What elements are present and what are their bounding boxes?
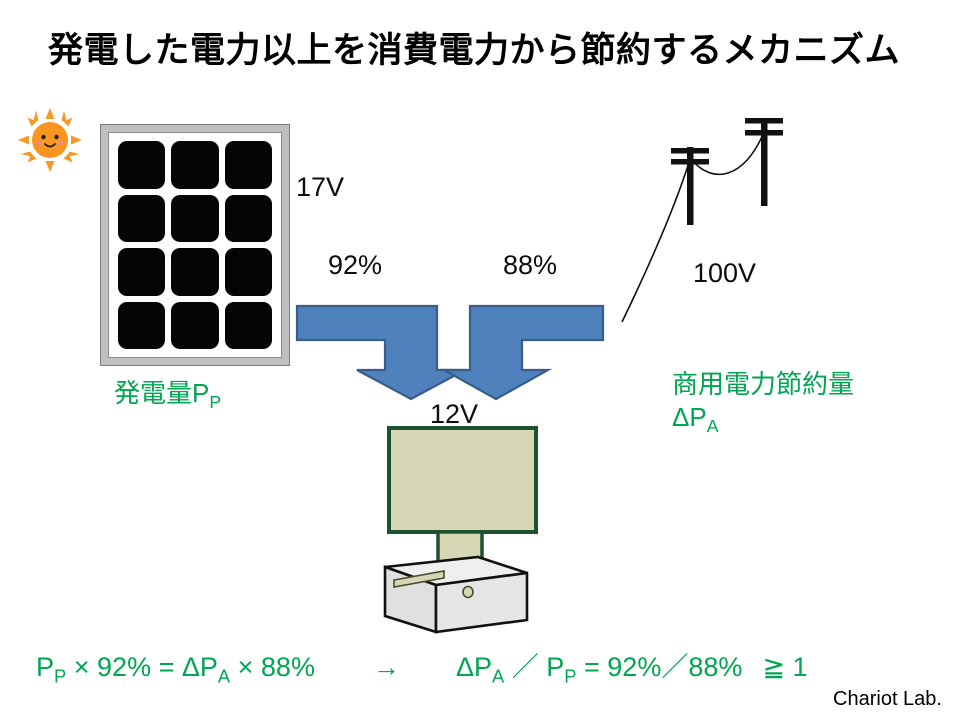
pc-top-face [385,557,527,585]
formula-p1: P [36,652,54,682]
pc-drive-slot [394,571,444,587]
panel-efficiency-label: 92% [328,250,382,281]
formula-p5-sub: P [564,665,576,686]
pv-cell [225,302,272,350]
generation-label-sub: P [209,392,221,412]
wire-drop [622,156,691,322]
monitor-stand [438,532,482,578]
formula-p7: ≧ 1 [762,652,807,682]
pv-cell [225,141,272,189]
solar-panel-icon [100,124,290,366]
utility-pole-left [671,147,709,225]
panel-voltage-label: 17V [296,172,344,203]
formula-arrow: → [373,652,400,682]
pv-cell [225,195,272,243]
formula-p1-sub: P [54,665,66,686]
page-title: 発電した電力以上を消費電力から節約するメカニズム [48,22,928,73]
pc-left-face [385,567,436,632]
bent-arrow-down-left-icon [297,306,465,399]
formula-p3: × 88% [230,652,315,682]
pc-power-button [463,587,473,598]
pv-cell [171,302,218,350]
pv-cell [118,248,165,296]
utility-pole-right [745,118,783,206]
formula-p6: = 92%／88% [577,652,743,682]
monitor-icon [389,428,536,532]
saving-label: 商用電力節約量 ΔPA [672,368,854,437]
pv-cell [225,248,272,296]
grid-voltage-label: 100V [693,258,756,289]
pv-cell [171,195,218,243]
pv-cell [171,141,218,189]
saving-label-sub: A [707,416,719,436]
slide-canvas: 発電した電力以上を消費電力から節約するメカニズム [0,0,960,720]
pv-cell [118,195,165,243]
formula-p2: × 92% = ΔP [66,652,218,682]
formula: PP × 92% = ΔPA × 88%→ΔPA ／ PP = 92%／88%≧… [36,645,916,687]
grid-efficiency-label: 88% [503,250,557,281]
saving-label-line2: ΔPA [672,401,854,437]
formula-p2-sub: A [218,665,230,686]
solar-panel-cells [108,132,282,358]
pv-cell [118,141,165,189]
formula-p4: ΔP [456,652,492,682]
formula-p5: ／ P [504,652,564,682]
saving-label-line1: 商用電力節約量 [672,368,854,401]
pv-cell [118,302,165,350]
credit-label: Chariot Lab. [833,688,942,711]
load-voltage-label: 12V [430,399,478,430]
generation-label-text: 発電量P [114,378,209,408]
pc-right-face [436,573,527,632]
generation-label: 発電量PP [114,373,221,413]
pv-cell [171,248,218,296]
bent-arrow-down-right-icon [444,306,603,399]
saving-label-symbol: ΔP [672,402,707,432]
wire-span [692,132,764,174]
formula-p4-sub: A [492,665,504,686]
sun-icon [16,106,84,174]
